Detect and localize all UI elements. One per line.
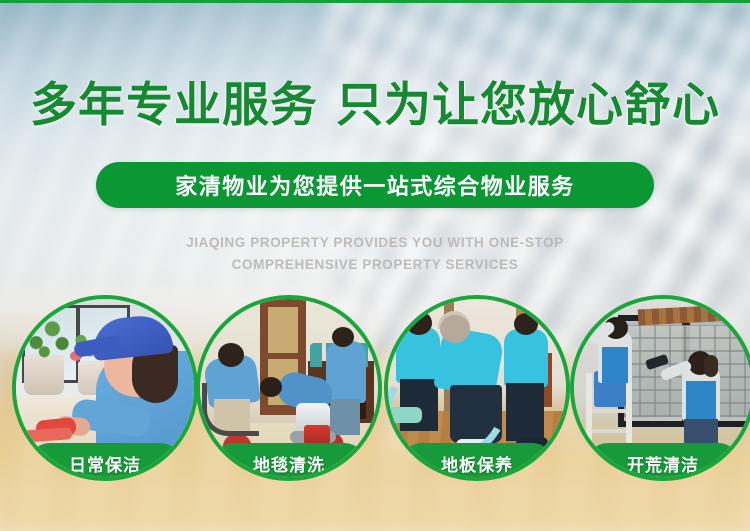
headline-part-2: 只为让您放心舒心 [336,78,720,133]
promo-banner: 多年专业服务只为让您放心舒心 家清物业为您提供一站式综合物业服务 JIAQING… [0,0,750,531]
top-green-rule [0,0,750,3]
english-subtitle-line-1: JIAQING PROPERTY PROVIDES YOU WITH ONE-S… [0,232,750,254]
service-card-daily-cleaning[interactable]: 日常保洁 [12,295,198,481]
english-subtitle-line-2: COMPREHENSIVE PROPERTY SERVICES [0,254,750,276]
service-label-text: 日常保洁 [69,451,141,476]
service-circle-row: 日常保洁 地毯清洗 [0,295,750,495]
service-label-daily-cleaning: 日常保洁 [28,443,182,481]
headline-part-1: 多年专业服务 [30,78,318,133]
service-label-text: 地毯清洗 [253,451,325,476]
tagline-pill: 家清物业为您提供一站式综合物业服务 [96,162,654,208]
service-card-post-construction-cleaning[interactable]: 开荒清洁 [570,295,750,481]
service-label-floor-maintenance: 地板保养 [400,443,554,481]
service-label-post-construction-cleaning: 开荒清洁 [586,443,740,481]
service-card-carpet-cleaning[interactable]: 地毯清洗 [196,295,382,481]
service-label-text: 开荒清洁 [627,451,699,476]
tagline-text: 家清物业为您提供一站式综合物业服务 [175,169,575,201]
english-subtitle: JIAQING PROPERTY PROVIDES YOU WITH ONE-S… [0,232,750,276]
service-card-floor-maintenance[interactable]: 地板保养 [384,295,570,481]
service-label-carpet-cleaning: 地毯清洗 [212,443,366,481]
page-title: 多年专业服务只为让您放心舒心 [0,82,750,129]
service-label-text: 地板保养 [441,451,513,476]
